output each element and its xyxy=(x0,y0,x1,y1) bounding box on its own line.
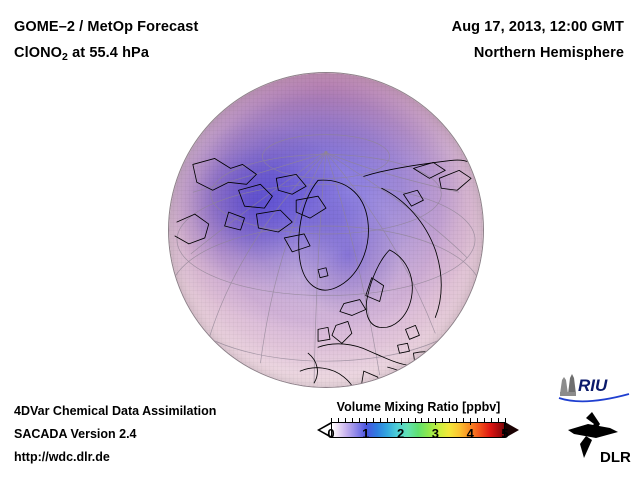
colorbar-tick-minor xyxy=(498,418,499,422)
colorbar-tick-minor xyxy=(352,418,353,422)
colorbar-tick-minor xyxy=(484,418,485,422)
dlr-logo: DLR xyxy=(562,410,634,468)
colorbar-tick-label: 3 xyxy=(432,425,439,443)
globe-limb-shading xyxy=(169,73,483,387)
colorbar-title: Volume Mixing Ratio [ppbv] xyxy=(316,400,521,414)
colorbar-tick-major xyxy=(331,418,332,425)
globe-disc xyxy=(168,72,484,388)
colorbar-tick-major xyxy=(505,418,506,425)
riu-wordmark: RIU xyxy=(578,376,608,395)
colorbar-tick-major xyxy=(401,418,402,425)
colorbar-tick-minor xyxy=(449,418,450,422)
colorbar-tick-minor xyxy=(442,418,443,422)
colorbar-legend: Volume Mixing Ratio [ppbv] 012345 xyxy=(316,400,521,440)
colorbar-tick-minor xyxy=(338,418,339,422)
header-right-block: Aug 17, 2013, 12:00 GMT Northern Hemisph… xyxy=(294,14,624,66)
colorbar-tick-minor xyxy=(491,418,492,422)
colorbar-tick-major xyxy=(366,418,367,425)
website-link[interactable]: http://wdc.dlr.de xyxy=(14,446,216,469)
riu-logo: RIU xyxy=(556,372,632,404)
footer-credits: 4DVar Chemical Data Assimilation SACADA … xyxy=(14,400,216,469)
colorbar-tick-minor xyxy=(359,418,360,422)
colorbar-tick-minor xyxy=(477,418,478,422)
hemisphere-label: Northern Hemisphere xyxy=(294,40,624,66)
colorbar-tick-minor xyxy=(387,418,388,422)
colorbar-tick-minor xyxy=(456,418,457,422)
globe-map xyxy=(168,72,484,388)
colorbar-tick-minor xyxy=(428,418,429,422)
colorbar-tick-minor xyxy=(408,418,409,422)
colorbar-tick-label: 4 xyxy=(467,425,474,443)
colorbar-tick-minor xyxy=(463,418,464,422)
colorbar-tick-major xyxy=(470,418,471,425)
species-name: ClONO xyxy=(14,45,62,61)
dlr-wordmark: DLR xyxy=(600,449,631,466)
colorbar-tick-minor xyxy=(415,418,416,422)
timestamp-label: Aug 17, 2013, 12:00 GMT xyxy=(294,14,624,40)
colorbar-tick-minor xyxy=(380,418,381,422)
pressure-level: at 55.4 hPa xyxy=(68,45,149,61)
colorbar-tick-minor xyxy=(373,418,374,422)
riu-cathedral-icon xyxy=(560,374,576,396)
colorbar-tick-labels: 012345 xyxy=(331,425,505,443)
colorbar-tick-label: 0 xyxy=(327,425,334,443)
colorbar-tick-minor xyxy=(345,418,346,422)
colorbar-tick-minor xyxy=(394,418,395,422)
method-label: 4DVar Chemical Data Assimilation xyxy=(14,400,216,423)
colorbar-tick-label: 2 xyxy=(397,425,404,443)
colorbar-tick-label: 5 xyxy=(501,425,508,443)
colorbar-ticks xyxy=(331,418,505,425)
version-label: SACADA Version 2.4 xyxy=(14,423,216,446)
colorbar-tick-minor xyxy=(421,418,422,422)
colorbar-tick-label: 1 xyxy=(362,425,369,443)
colorbar-tick-major xyxy=(435,418,436,425)
